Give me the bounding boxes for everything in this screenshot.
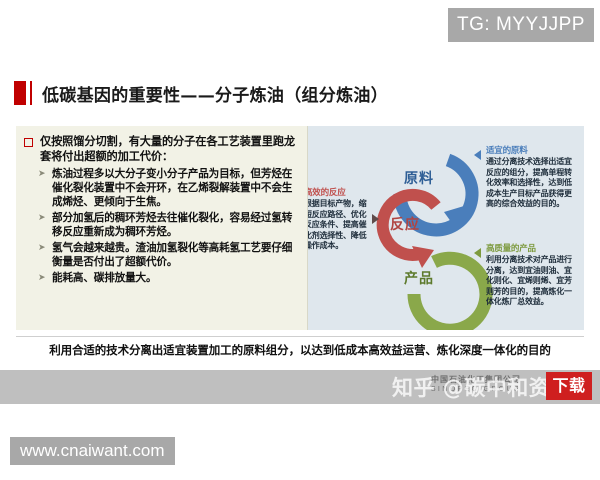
page-title: 低碳基因的重要性——分子炼油（组分炼油）	[14, 80, 388, 106]
caption-divider	[16, 336, 584, 337]
annotation-high-quality-product: 高质量的产品 利用分离技术对产品进行分离，达到宜油则油、宜化则化、宜烯则烯、宜芳…	[486, 242, 578, 308]
arrow-bullet-icon: ➤	[38, 271, 47, 285]
main-bullet-text: 仅按照馏分切割，有大量的分子在各工艺装置里跑龙套将付出超额的加工代价：	[40, 134, 301, 164]
main-bullet-item: 仅按照馏分切割，有大量的分子在各工艺装置里跑龙套将付出超额的加工代价：	[22, 134, 301, 164]
annotation-efficient-reaction: 高效的反应 根据目标产物，缩短反应路径、优化反应条件、提高催化剂选择性、降低操作…	[308, 186, 370, 252]
sub-bullet-text: 能耗高、碳排放量大。	[52, 271, 156, 285]
annotation-heading: 适宜的原料	[486, 144, 578, 156]
bullet-panel: 仅按照馏分切割，有大量的分子在各工艺装置里跑龙套将付出超额的加工代价： ➤ 炼油…	[16, 126, 308, 330]
list-item: ➤ 能耗高、碳排放量大。	[38, 271, 301, 285]
left-pointer-icon	[372, 214, 379, 224]
annotation-body: 通过分离技术选择出适宜反应的组分，提高单程转化效率和选择性，达到低成本生产目标产…	[486, 157, 578, 210]
zhihu-watermark: 知乎 @碳中和资料	[392, 372, 572, 402]
title-accent-bar	[30, 81, 32, 105]
title-accent-block	[14, 81, 26, 105]
sub-bullet-text: 炼油过程多以大分子变小分子产品为目标，但芳烃在催化裂化装置中不会开环，在乙烯裂解…	[52, 167, 301, 209]
tg-watermark: TG: MYYJJPP	[448, 8, 594, 42]
cycle-diagram: 原料 反应 产品 高效的反应 根据目标产物，缩短反应路径、优化反应条件、提高催化…	[308, 126, 584, 330]
square-bullet-icon	[24, 138, 33, 147]
cycle-label-product: 产品	[404, 268, 434, 288]
download-button[interactable]: 下载	[546, 372, 592, 400]
arrow-bullet-icon: ➤	[38, 241, 47, 255]
list-item: ➤ 氢气会越来越贵。渣油加氢裂化等高耗氢工艺要仔细衡量是否付出了超额代价。	[38, 241, 301, 269]
slide-caption: 利用合适的技术分离出适宜装置加工的原料组分，以达到低成本高效益运营、炼化深度一体…	[16, 342, 584, 358]
list-item: ➤ 炼油过程多以大分子变小分子产品为目标，但芳烃在催化裂化装置中不会开环，在乙烯…	[38, 167, 301, 209]
cycle-label-raw-material: 原料	[404, 168, 434, 188]
arrow-bullet-icon: ➤	[38, 211, 47, 225]
sub-bullet-list: ➤ 炼油过程多以大分子变小分子产品为目标，但芳烃在催化裂化装置中不会开环，在乙烯…	[22, 167, 301, 285]
annotation-suitable-feedstock: 适宜的原料 通过分离技术选择出适宜反应的组分，提高单程转化效率和选择性，达到低成…	[486, 144, 578, 210]
right-bottom-pointer-icon	[474, 248, 481, 258]
sub-bullet-text: 氢气会越来越贵。渣油加氢裂化等高耗氢工艺要仔细衡量是否付出了超额代价。	[52, 241, 301, 269]
content-area: 仅按照馏分切割，有大量的分子在各工艺装置里跑龙套将付出超额的加工代价： ➤ 炼油…	[16, 126, 584, 330]
annotation-heading: 高效的反应	[308, 186, 370, 198]
title-text: 低碳基因的重要性——分子炼油（组分炼油）	[42, 81, 388, 106]
annotation-body: 根据目标产物，缩短反应路径、优化反应条件、提高催化剂选择性、降低操作成本。	[308, 199, 370, 252]
arrow-bullet-icon: ➤	[38, 167, 47, 181]
url-watermark: www.cnaiwant.com	[10, 437, 175, 465]
sub-bullet-text: 部分加氢后的稠环芳烃去往催化裂化，容易经过氢转移反应重新成为稠环芳烃。	[52, 211, 301, 239]
annotation-heading: 高质量的产品	[486, 242, 578, 254]
list-item: ➤ 部分加氢后的稠环芳烃去往催化裂化，容易经过氢转移反应重新成为稠环芳烃。	[38, 211, 301, 239]
slide-page: TG: MYYJJPP 低碳基因的重要性——分子炼油（组分炼油） 仅按照馏分切割…	[0, 0, 600, 480]
right-top-pointer-icon	[474, 150, 481, 160]
cycle-label-reaction: 反应	[390, 214, 420, 234]
annotation-body: 利用分离技术对产品进行分离，达到宜油则油、宜化则化、宜烯则烯、宜芳则芳的目的，提…	[486, 255, 578, 308]
